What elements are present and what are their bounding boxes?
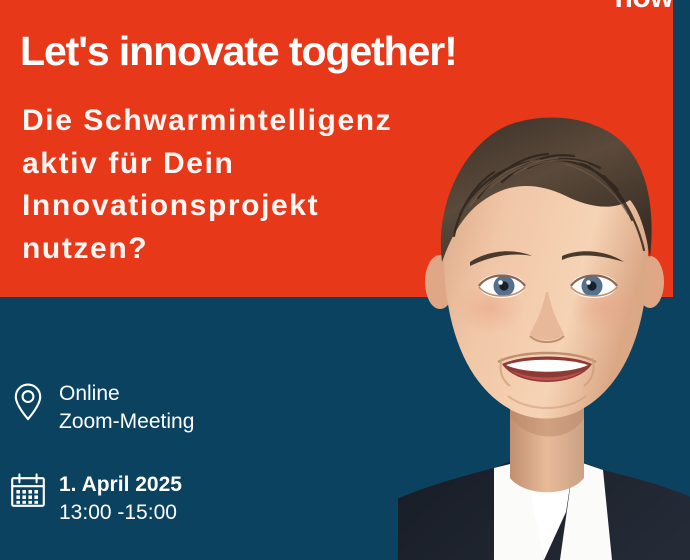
brand-wordmark: now	[615, 0, 674, 13]
date-line-1: 1. April 2025	[59, 471, 182, 499]
location-line-2: Zoom-Meeting	[59, 408, 194, 436]
date-line-2: 13:00 -15:00	[59, 499, 182, 527]
date-info: 1. April 2025 13:00 -15:00	[8, 471, 182, 527]
location-text: Online Zoom-Meeting	[59, 380, 194, 436]
speaker-portrait	[398, 86, 690, 560]
location-info: Online Zoom-Meeting	[8, 380, 194, 436]
page-title: Let's innovate together!	[20, 31, 457, 72]
calendar-icon	[8, 471, 48, 521]
map-pin-icon	[8, 380, 48, 430]
location-line-1: Online	[59, 380, 194, 408]
date-text: 1. April 2025 13:00 -15:00	[59, 471, 182, 527]
event-poster: now Let's innovate together! Die Schwarm…	[0, 0, 690, 560]
